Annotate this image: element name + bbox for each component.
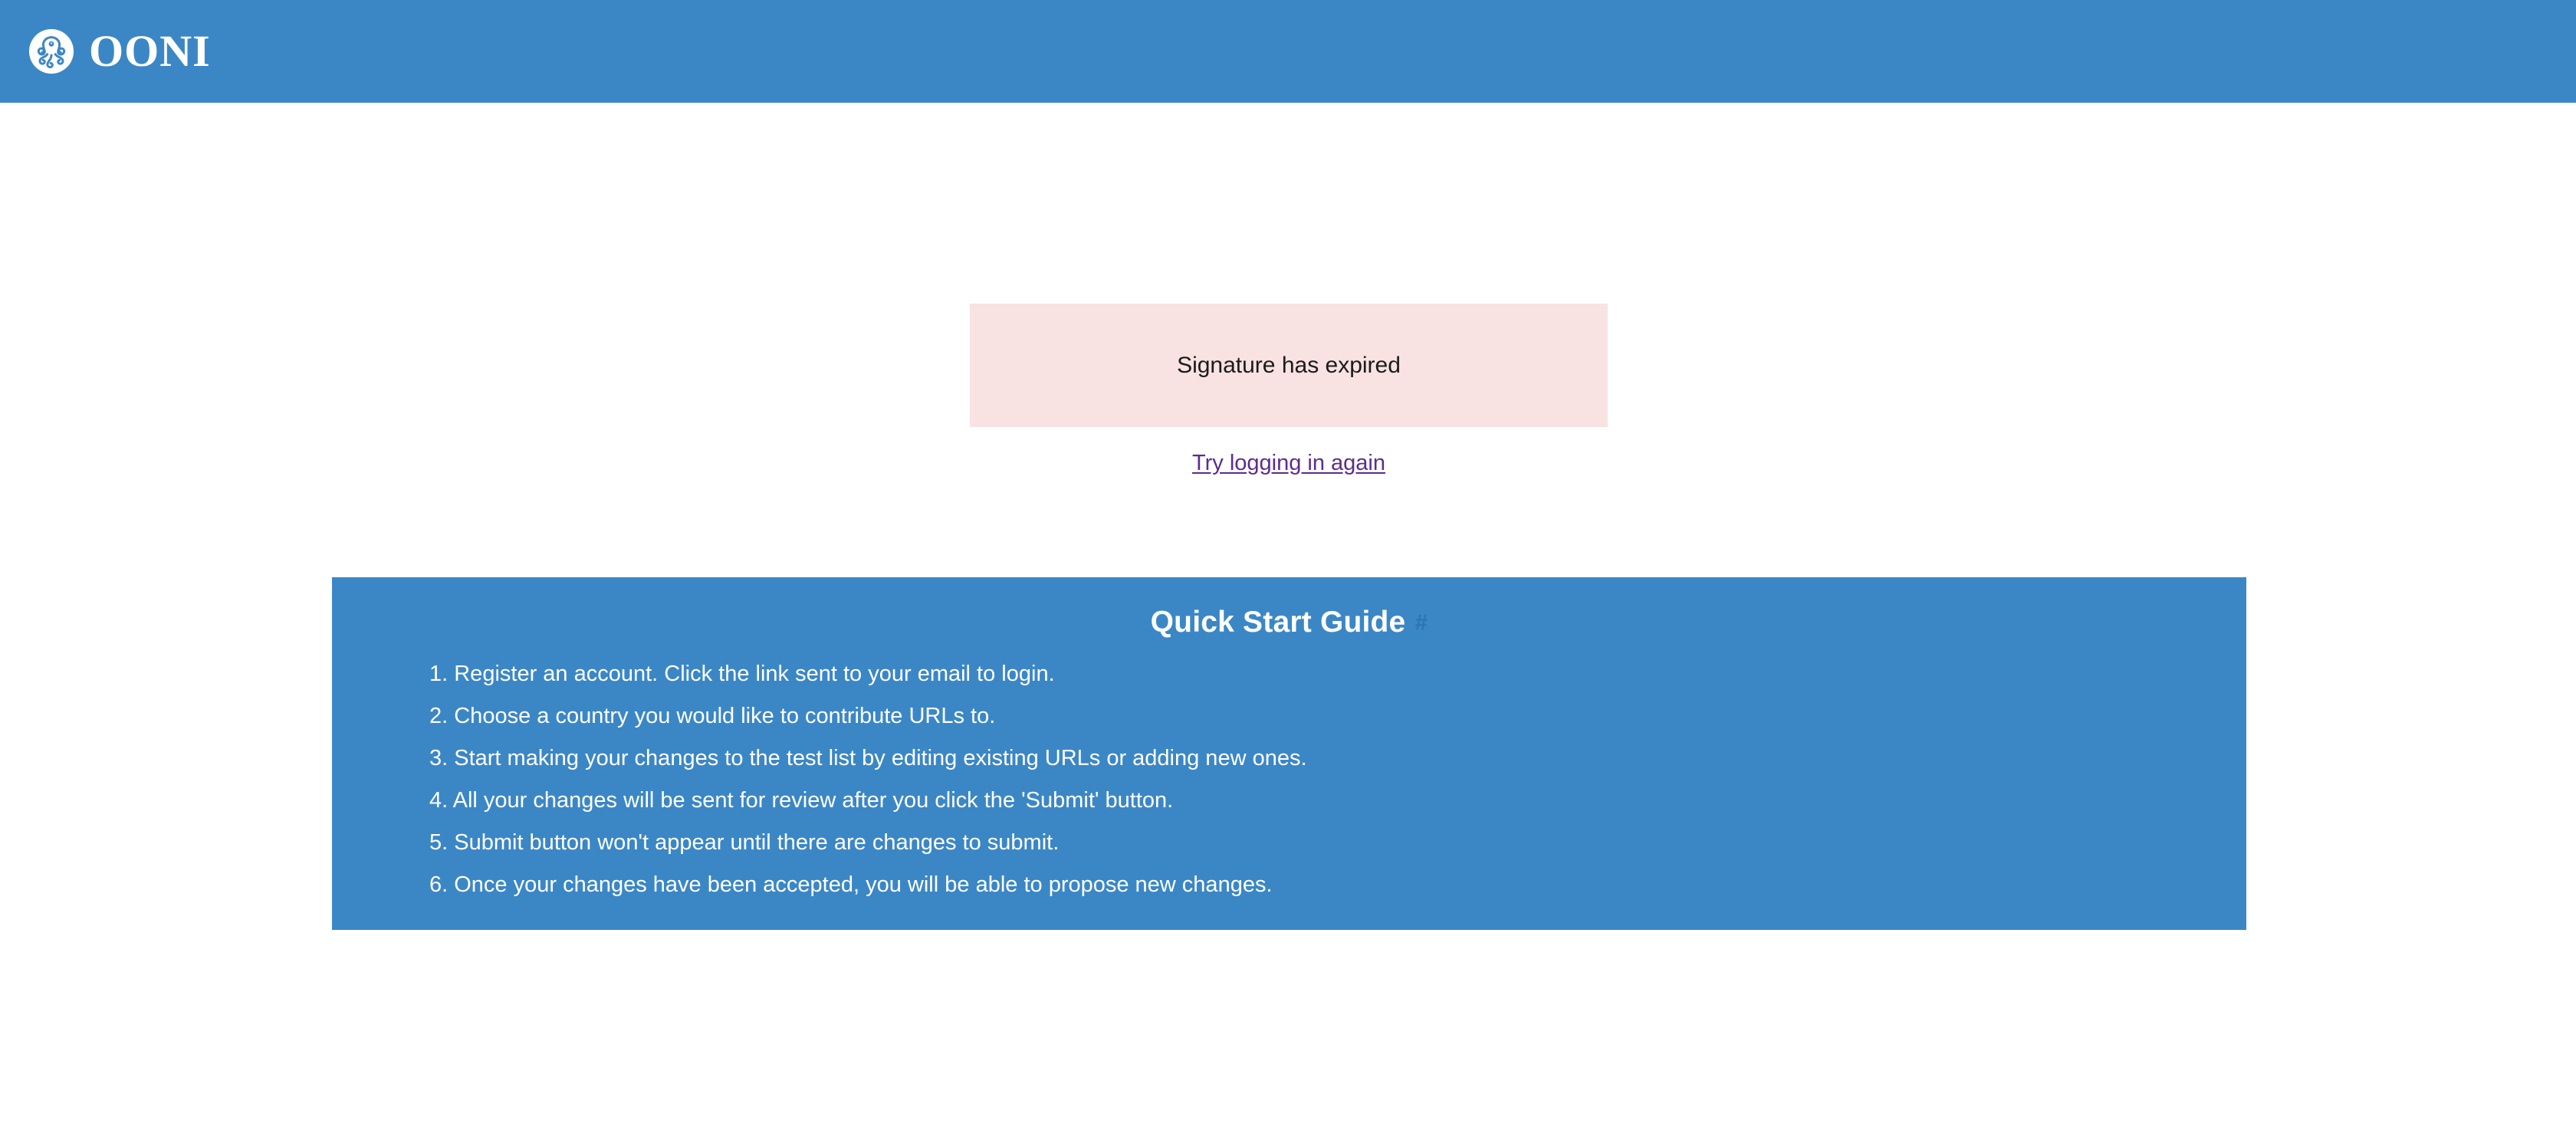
retry-login-container: Try logging in again bbox=[970, 451, 1608, 476]
error-alert-box: Signature has expired bbox=[970, 304, 1608, 427]
list-item: 1. Register an account. Click the link s… bbox=[429, 653, 2246, 695]
list-item: 5. Submit button won't appear until ther… bbox=[429, 822, 2246, 864]
quick-start-guide-panel: Quick Start Guide# 1. Register an accoun… bbox=[332, 577, 2246, 930]
list-item: 4. All your changes will be sent for rev… bbox=[429, 780, 2246, 822]
error-alert-message: Signature has expired bbox=[1158, 353, 1419, 379]
try-logging-in-again-link[interactable]: Try logging in again bbox=[1192, 451, 1385, 475]
heading-anchor-link-icon[interactable]: # bbox=[1414, 610, 1428, 636]
top-header-bar: OONI bbox=[0, 0, 2576, 103]
list-item: 2. Choose a country you would like to co… bbox=[429, 695, 2246, 737]
list-item: 3. Start making your changes to the test… bbox=[429, 737, 2246, 780]
quick-start-guide-title: Quick Start Guide# bbox=[332, 606, 2246, 639]
list-item: 6. Once your changes have been accepted,… bbox=[429, 864, 2246, 906]
brand-name-label: OONI bbox=[89, 29, 211, 74]
ooni-octopus-logo-icon bbox=[28, 28, 75, 75]
ooni-brand-link[interactable]: OONI bbox=[28, 28, 211, 75]
quick-start-guide-list: 1. Register an account. Click the link s… bbox=[332, 653, 2246, 906]
quick-start-guide-title-text: Quick Start Guide bbox=[1151, 606, 1406, 639]
